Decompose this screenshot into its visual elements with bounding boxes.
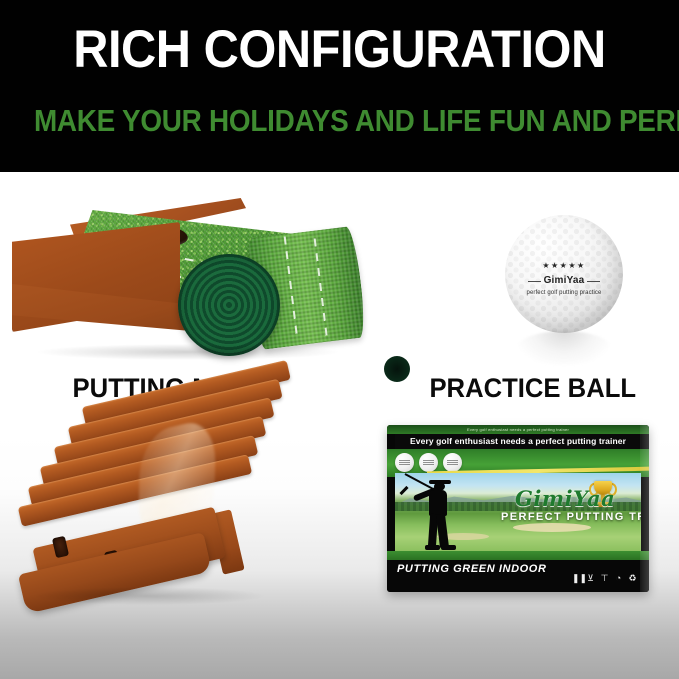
box-lower-green-band: [387, 551, 649, 560]
mat-roll-core: [384, 356, 410, 382]
box-footer-label: PUTTING GREEN INDOOR: [397, 563, 547, 575]
ball-brand-name: GimiYaa: [544, 274, 585, 287]
ball-reflection: [517, 331, 611, 365]
golfer-foot: [441, 545, 456, 550]
box-mini-ball: [419, 453, 438, 472]
ball-tagline: perfect golf putting practice: [505, 288, 623, 298]
product-infographic: RICH CONFIGURATION MAKE YOUR HOLIDAYS AN…: [0, 0, 679, 679]
five-stars: ★★★★★: [505, 261, 623, 270]
golfer-foot: [425, 545, 440, 550]
golfer-silhouette: [407, 477, 469, 551]
golfer-torso: [429, 490, 447, 516]
care-icon-recycle: ♻: [628, 573, 637, 583]
golf-club-head: [399, 486, 408, 495]
page-subtitle: MAKE YOUR HOLIDAYS AND LIFE FUN AND PERF…: [34, 104, 645, 138]
page-title: RICH CONFIGURATION: [27, 22, 652, 78]
care-icon-fragile: ❚❚: [572, 573, 581, 583]
care-icon-handle-care: ⊻: [586, 573, 595, 583]
care-icon-this-way-up: ⊤: [600, 573, 609, 583]
ball-branding: ★★★★★ GimiYaa perfect golf putting pract…: [505, 261, 623, 298]
header-band: RICH CONFIGURATION MAKE YOUR HOLIDAYS AN…: [0, 0, 679, 172]
photo-sand-bunker: [513, 523, 591, 532]
practice-ball-image: ★★★★★ GimiYaa perfect golf putting pract…: [505, 215, 635, 360]
box-sub-logo: PERFECT PUTTING TRAINER: [501, 511, 641, 523]
box-care-icons: ❚❚ ⊻ ⊤ ◔ ♻: [572, 573, 637, 583]
drop-shadow: [38, 344, 338, 360]
drop-shadow: [34, 587, 264, 605]
box-top-strip: Every golf enthusiast needs a perfect pu…: [387, 425, 649, 434]
retail-box-image: Every golf enthusiast needs a perfect pu…: [387, 425, 649, 592]
putting-mat-image: [8, 188, 388, 358]
care-icon-keep-dry: ◔: [614, 573, 623, 583]
box-mini-ball: [395, 453, 414, 472]
mat-roll-coil: [178, 254, 280, 356]
box-side-panel: [640, 425, 649, 592]
wooden-trainer-image: [18, 405, 348, 620]
box-brand-logo: GimiYaa: [515, 488, 615, 510]
golfer-leg: [436, 514, 449, 549]
box-banner-text: Every golf enthusiast needs a perfect pu…: [395, 434, 641, 449]
caption-practice-ball: PRACTICE BALL: [429, 373, 636, 404]
box-cover-photo: GimiYaa PERFECT PUTTING TRAINER: [395, 473, 641, 551]
box-mini-ball: [443, 453, 462, 472]
